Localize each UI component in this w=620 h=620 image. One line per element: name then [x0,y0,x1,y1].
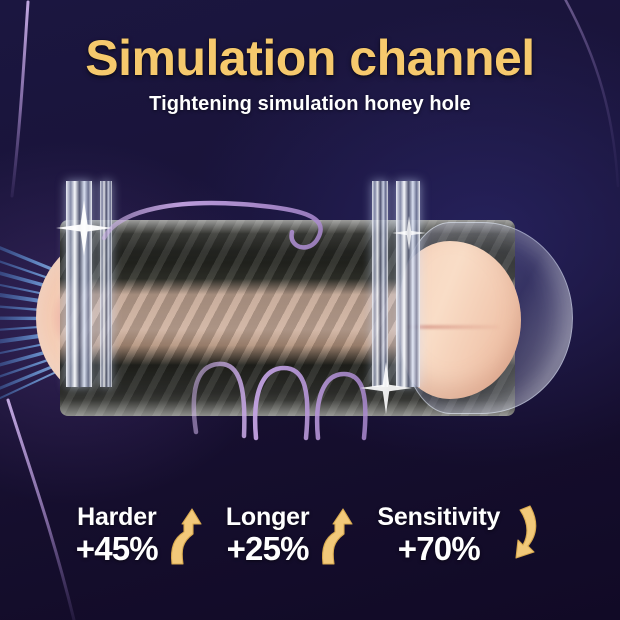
banner-header: Simulation channel Tightening simulation… [0,0,620,116]
curved-arrow-up-icon [162,504,202,566]
stat-item-longer: Longer +25% [226,504,354,566]
stat-value: +45% [76,532,158,565]
dome-crease [407,325,499,329]
rounded-dome-cap [398,222,573,414]
chrome-ring-right-outer [396,181,420,387]
stat-label: Longer [226,505,310,530]
page-title: Simulation channel [0,32,620,84]
stat-text: Harder +45% [76,505,158,565]
product-feature-banner: Simulation channel Tightening simulation… [0,0,620,620]
stat-item-harder: Harder +45% [76,504,202,566]
curved-arrow-up-icon [313,504,353,566]
product-illustration [0,186,620,446]
page-subtitle: Tightening simulation honey hole [0,93,620,116]
stat-text: Sensitivity +70% [377,505,500,565]
curved-arrow-down-icon [504,504,544,566]
chrome-ring-left-outer [66,181,92,387]
stat-value: +70% [398,532,480,565]
stat-label: Harder [77,505,156,530]
chrome-ring-right-inner [372,181,388,387]
stat-label: Sensitivity [377,505,500,530]
stat-value: +25% [227,532,309,565]
stat-text: Longer +25% [226,505,310,565]
chrome-ring-left-inner [100,181,112,387]
stats-row: Harder +45% Longer +25% Sensitivity +70% [0,496,620,574]
stat-item-sensitivity: Sensitivity +70% [377,504,544,566]
